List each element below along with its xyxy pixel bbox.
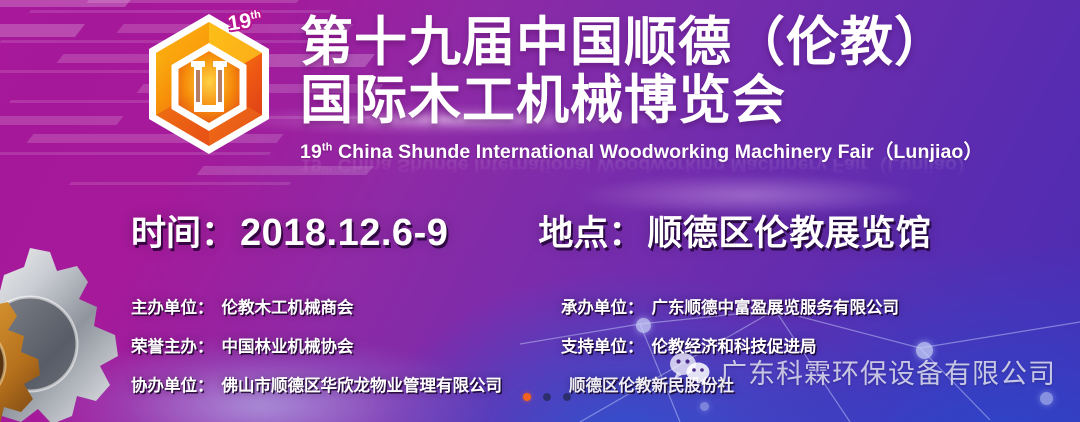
carousel-indicators[interactable] [523, 393, 571, 401]
venue-label: 地点： [538, 205, 643, 256]
organizer-value: 顺德区伦教新民股份社 [569, 372, 734, 396]
organizer-columns: 主办单位： 伦教木工机械商会 荣誉主办： 中国林业机械协会 协办单位： 佛山市顺… [131, 286, 1051, 403]
gear-decoration [0, 232, 132, 422]
carousel-dot-3[interactable] [563, 393, 571, 401]
exhibition-banner: 19th 第十九届中国顺德（伦教） 国际木工机械博览会 19th China S… [0, 0, 1080, 422]
date-value: 2018.12.6-9 [240, 212, 448, 255]
organizer-value: 伦教木工机械商会 [222, 294, 354, 318]
english-subtitle-ordinal: th [322, 142, 333, 154]
organizer-key: 支持单位： [561, 333, 644, 357]
organizer-key: 主办单位： [131, 294, 214, 318]
organizer-row: 协办单位： 佛山市顺德区华欣龙物业管理有限公司 [131, 364, 561, 403]
venue-value: 顺德区伦教展览馆 [647, 205, 931, 256]
organizer-column-right: 承办单位： 广东顺德中富盈展览服务有限公司 支持单位： 伦教经济和科技促进局 顺… [561, 286, 1051, 403]
date-label: 时间： [131, 205, 236, 256]
organizer-row: 荣誉主办： 中国林业机械协会 [131, 325, 561, 364]
date-block: 时间： 2018.12.6-9 [131, 205, 448, 256]
reflection-rest: China Shunde International Woodworking M… [332, 154, 976, 176]
organizer-value: 伦教经济和科技促进局 [652, 333, 817, 357]
reflection-ordinal: th [322, 164, 332, 176]
organizer-key: 协办单位： [131, 372, 214, 396]
organizer-row: 主办单位： 伦教木工机械商会 [131, 286, 561, 325]
highlight-bar: 时间： 2018.12.6-9 地点： 顺德区伦教展览馆 [131, 205, 991, 256]
organizer-value: 佛山市顺德区华欣龙物业管理有限公司 [222, 372, 503, 396]
organizer-value: 广东顺德中富盈展览服务有限公司 [652, 294, 900, 318]
carousel-dot-1[interactable] [523, 393, 531, 401]
organizer-value: 中国林业机械协会 [222, 333, 354, 357]
english-subtitle-reflection: 19th China Shunde International Woodwork… [300, 153, 976, 182]
reflection-prefix: 19 [300, 154, 322, 176]
organizer-row: 顺德区伦教新民股份社 [561, 364, 1051, 403]
headline-group: 第十九届中国顺德（伦教） 国际木工机械博览会 19th China Shunde… [300, 14, 980, 171]
organizer-column-left: 主办单位： 伦教木工机械商会 荣誉主办： 中国林业机械协会 协办单位： 佛山市顺… [131, 286, 561, 403]
organizer-key: 荣誉主办： [131, 333, 214, 357]
venue-block: 地点： 顺德区伦教展览馆 [538, 205, 931, 256]
english-subtitle-wrap: 19th China Shunde International Woodwork… [300, 135, 980, 171]
organizer-row: 承办单位： 广东顺德中富盈展览服务有限公司 [561, 286, 1051, 325]
title-line-2: 国际木工机械博览会 [300, 72, 980, 130]
title-line-1: 第十九届中国顺德（伦教） [300, 14, 980, 72]
organizer-key: 承办单位： [561, 294, 644, 318]
edition-ordinal: th [250, 8, 262, 21]
carousel-dot-2[interactable] [543, 393, 551, 401]
organizer-row: 支持单位： 伦教经济和科技促进局 [561, 325, 1051, 364]
